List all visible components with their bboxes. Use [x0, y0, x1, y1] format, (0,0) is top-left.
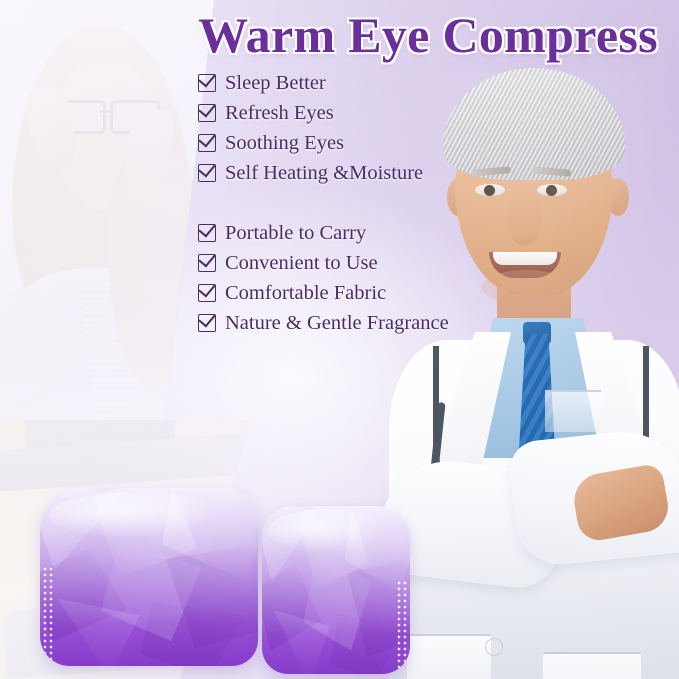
product-marketing-image: Warm Eye Compress Sleep Better Refresh E… [0, 0, 679, 679]
checkbox-checked-icon [198, 284, 216, 302]
eye-compress-pad-right [262, 506, 410, 674]
benefit-label: Convenient to Use [225, 252, 378, 275]
checkbox-checked-icon [198, 104, 216, 122]
doctor-pupil-right [546, 185, 557, 196]
pad-sheen [49, 492, 223, 538]
benefits-lists: Sleep Better Refresh Eyes Soothing Eyes … [198, 68, 498, 338]
checkbox-checked-icon [198, 314, 216, 332]
benefit-label: Portable to Carry [225, 222, 366, 245]
list-item: Soothing Eyes [198, 128, 498, 158]
benefit-label: Refresh Eyes [225, 102, 334, 125]
pad-sheen [268, 509, 386, 553]
checkbox-checked-icon [198, 254, 216, 272]
benefit-label: Comfortable Fabric [225, 282, 386, 305]
benefit-label: Self Heating &Moisture [225, 162, 423, 185]
doctor-eye-right [537, 184, 567, 196]
pad-perforated-edge-right [396, 580, 408, 674]
list-item: Comfortable Fabric [198, 278, 498, 308]
benefit-label: Nature & Gentle Fragrance [225, 312, 449, 335]
product-eye-compress-pads [40, 488, 380, 679]
doctor-teeth [493, 252, 557, 265]
benefit-label: Sleep Better [225, 72, 326, 95]
benefit-label: Soothing Eyes [225, 132, 344, 155]
coat-button [485, 638, 503, 656]
list-item: Portable to Carry [198, 218, 498, 248]
page-title: Warm Eye Compress [185, 8, 671, 62]
pad-bottom-shadow [262, 627, 410, 674]
checkbox-checked-icon [198, 224, 216, 242]
pad-bottom-shadow [40, 616, 258, 666]
benefits-group-secondary: Portable to Carry Convenient to Use Comf… [198, 218, 498, 338]
eye-compress-pad-left [40, 488, 258, 666]
list-item: Refresh Eyes [198, 98, 498, 128]
benefits-group-primary: Sleep Better Refresh Eyes Soothing Eyes … [198, 68, 498, 188]
checkbox-checked-icon [198, 134, 216, 152]
doctor-nose [507, 196, 541, 246]
list-item: Nature & Gentle Fragrance [198, 308, 498, 338]
list-item: Convenient to Use [198, 248, 498, 278]
list-item: Sleep Better [198, 68, 498, 98]
checkbox-checked-icon [198, 164, 216, 182]
checkbox-checked-icon [198, 74, 216, 92]
coat-pocket-left [407, 634, 491, 679]
pad-perforated-edge-left [42, 566, 54, 666]
list-item: Self Heating &Moisture [198, 158, 498, 188]
coat-pocket-right [543, 652, 641, 679]
